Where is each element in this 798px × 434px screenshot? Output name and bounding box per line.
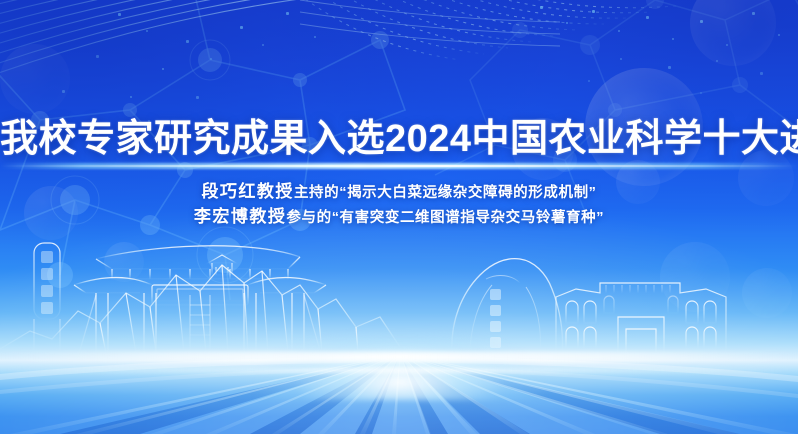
subtitle-line-1: 段巧红教授主持的“揭示大白菜远缘杂交障碍的形成机制”	[0, 180, 798, 205]
subtitle-block: 段巧红教授主持的“揭示大白菜远缘杂交障碍的形成机制” 李宏博教授参与的“有害突变…	[0, 180, 798, 230]
mountain-pavilion-icon	[208, 255, 236, 275]
horizon-light-band	[0, 352, 798, 362]
subtitle-line-2: 李宏博教授参与的“有害突变二维图谱指导杂交马铃薯育种”	[0, 205, 798, 230]
banner-root: 我校专家研究成果入选2024中国农业科学十大进展 段巧红教授主持的“揭示大白菜远…	[0, 0, 798, 434]
researcher-name-1: 段巧红教授	[201, 182, 294, 201]
stele-left	[34, 243, 60, 355]
campus-building-right	[556, 283, 726, 355]
project-description-2: 参与的“有害突变二维图谱指导杂交马铃薯育种”	[286, 210, 604, 226]
page-title: 我校专家研究成果入选2024中国农业科学十大进展	[0, 117, 798, 161]
horizon-light-band-secondary	[0, 368, 798, 373]
title-divider-line	[0, 165, 798, 167]
researcher-name-2: 李宏博教授	[194, 207, 287, 226]
stele-left-text-glyphs	[41, 251, 53, 314]
project-description-1: 主持的“揭示大白菜远缘杂交障碍的形成机制”	[294, 185, 597, 201]
vanishing-point-glow	[255, 330, 545, 400]
